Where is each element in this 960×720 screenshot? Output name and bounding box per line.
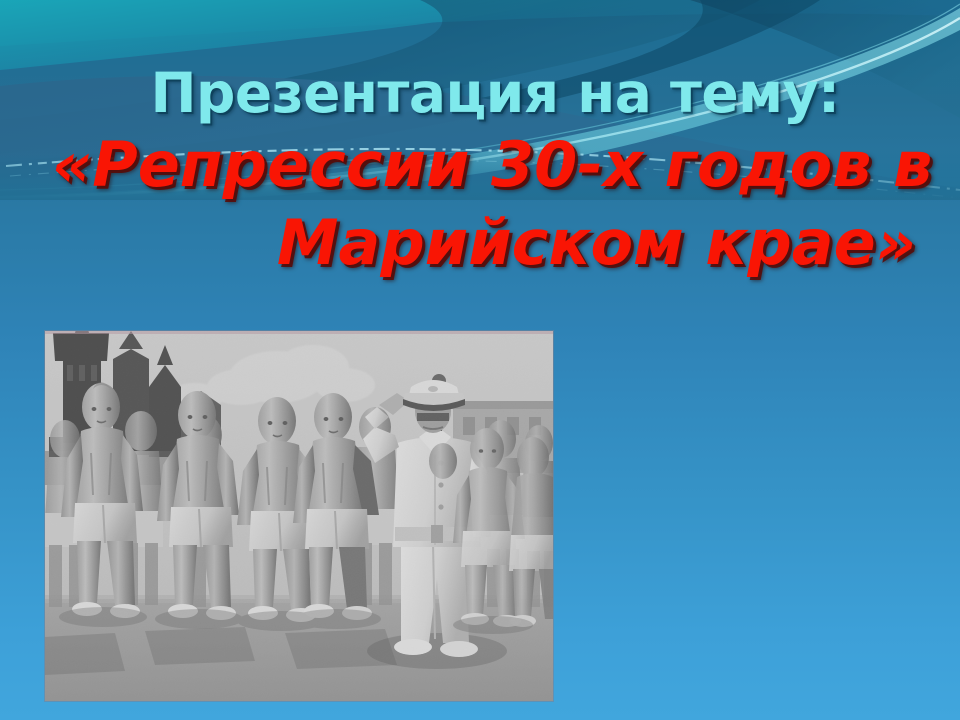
page-title-line-1: «Репрессии 30-х годов в [34, 126, 926, 204]
title-block: Презентация на тему: «Репрессии 30-х год… [0, 60, 960, 282]
page-subtitle: Презентация на тему: [34, 60, 926, 126]
page-title-line-2: Марийском крае» [34, 204, 926, 282]
parade-photo-graphic [45, 331, 553, 701]
presentation-slide: Презентация на тему: «Репрессии 30-х год… [0, 0, 960, 720]
historical-photograph [45, 331, 553, 701]
